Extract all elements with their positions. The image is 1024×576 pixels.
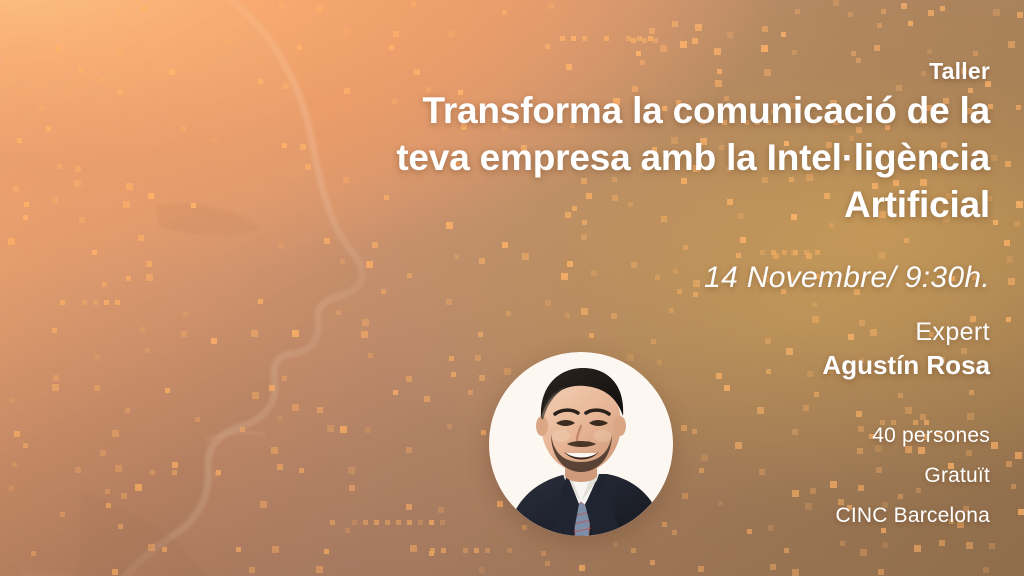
list-item: 40 persones	[730, 418, 990, 454]
headline-line-2: teva empresa amb la Intel·ligència	[290, 135, 990, 182]
event-datetime: 14 Novembre/ 9:30h.	[704, 261, 990, 295]
list-item: Gratuït	[730, 458, 990, 494]
event-type-kicker: Taller	[929, 58, 990, 85]
venue-text: CINC Barcelona	[835, 504, 990, 528]
expert-name: Agustín Rosa	[822, 350, 990, 381]
event-promo-banner: Taller Transforma la comunicació de la t…	[0, 0, 1024, 576]
headline-line-3: Artificial	[290, 182, 990, 229]
page-title: Transforma la comunicació de la teva emp…	[290, 88, 990, 229]
event-details-list: 40 persones Gratuït	[730, 418, 990, 538]
list-item: CINC Barcelona	[730, 498, 990, 534]
attendee-capacity-text: 40 persones	[872, 424, 990, 448]
banner-content: Taller Transforma la comunicació de la t…	[290, 0, 990, 576]
expert-role-label: Expert	[915, 318, 990, 347]
price-text: Gratuït	[924, 464, 990, 488]
headline-line-1: Transforma la comunicació de la	[290, 88, 990, 135]
